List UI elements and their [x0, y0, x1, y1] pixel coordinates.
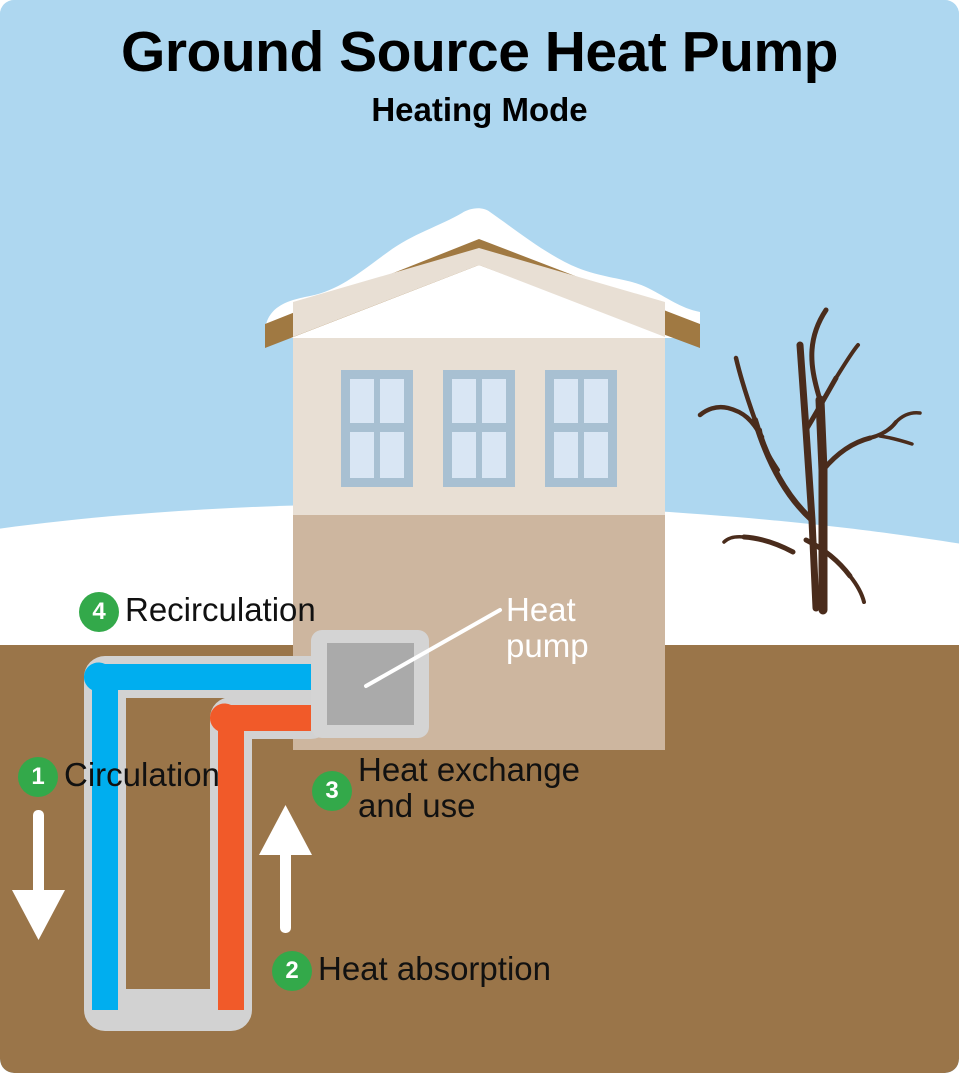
window-left — [341, 370, 413, 487]
step-label-recirculation: Recirculation — [125, 592, 316, 628]
step-badge-1: 1 — [18, 757, 58, 797]
step-badge-4: 4 — [79, 592, 119, 632]
page-subtitle: Heating Mode — [0, 92, 959, 128]
page-title: Ground Source Heat Pump — [0, 22, 959, 84]
step-label-circulation: Circulation — [64, 757, 220, 793]
step-label-heat-absorption: Heat absorption — [318, 951, 551, 987]
step-badge-2: 2 — [272, 951, 312, 991]
diagram-canvas: Ground Source Heat Pump Heating Mode 4 R… — [0, 0, 959, 1073]
scene-graphic — [0, 0, 959, 1073]
step-label-heat-exchange-and-use: Heat exchange and use — [358, 752, 580, 823]
callout-label-heat-pump: Heat pump — [506, 592, 589, 663]
window-center — [443, 370, 515, 487]
window-right — [545, 370, 617, 487]
step-badge-3: 3 — [312, 771, 352, 811]
